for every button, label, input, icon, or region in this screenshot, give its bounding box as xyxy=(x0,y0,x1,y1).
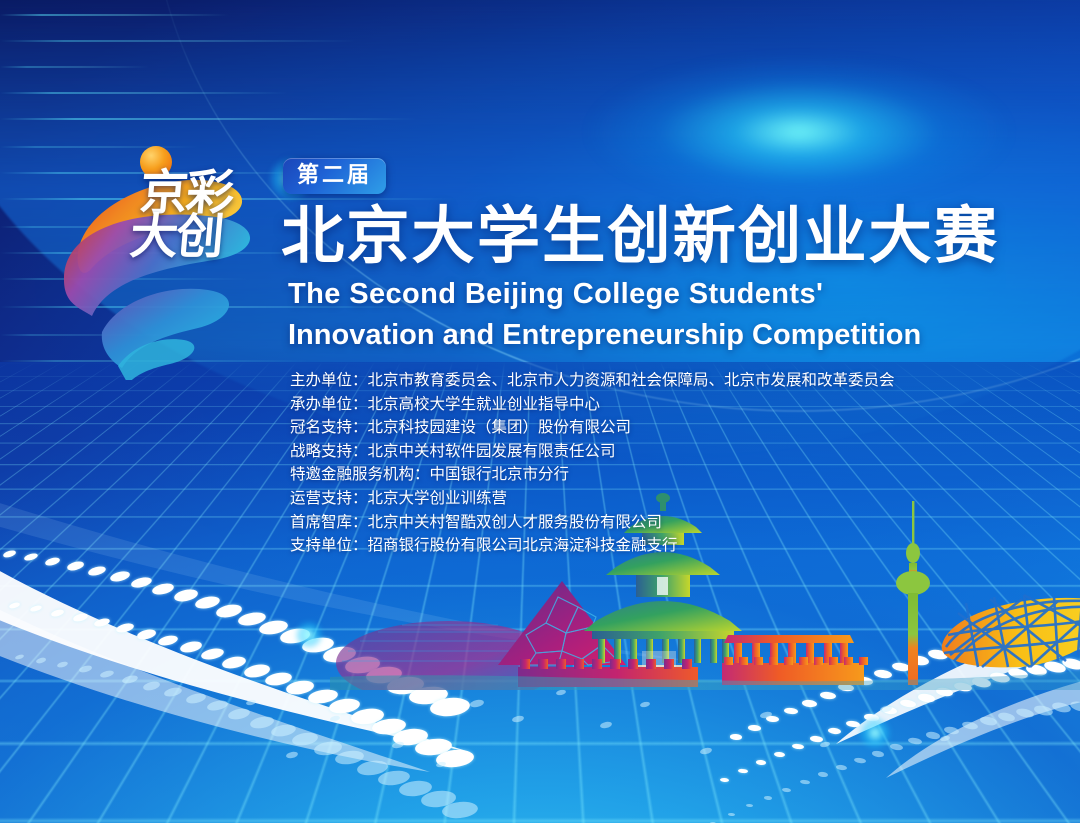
organizer-line: 战略支持：北京中关村软件园发展有限责任公司 xyxy=(290,440,895,464)
halftone-dot xyxy=(330,715,341,722)
halftone-dot xyxy=(908,737,923,745)
halftone-dot xyxy=(820,741,831,748)
halftone-dot xyxy=(66,560,84,572)
halftone-dot xyxy=(179,640,202,654)
halftone-dot xyxy=(800,779,810,784)
halftone-dot xyxy=(820,691,836,700)
sparkle-icon xyxy=(858,716,892,750)
halftone-dot xyxy=(206,699,229,713)
halftone-dot xyxy=(469,699,484,709)
halftone-dot xyxy=(30,605,43,614)
halftone-dot xyxy=(14,654,23,660)
halftone-dot xyxy=(997,711,1015,722)
halftone-dot xyxy=(222,655,248,671)
halftone-dot xyxy=(943,726,959,736)
halftone-dot xyxy=(872,750,885,757)
halftone-dot xyxy=(756,760,767,766)
page-subtitle-line1: The Second Beijing College Students' xyxy=(288,274,921,315)
organizer-line: 主办单位：北京市教育委员会、北京市人力资源和社会保障局、北京市发展和改革委员会 xyxy=(290,369,895,393)
halftone-dot xyxy=(286,751,299,759)
halftone-dot xyxy=(1069,700,1080,714)
halftone-dot xyxy=(292,731,320,747)
halftone-dot xyxy=(173,588,198,604)
organizer-line: 特邀金融服务机构：中国银行北京市分行 xyxy=(290,463,895,487)
organizer-list: 主办单位：北京市教育委员会、北京市人力资源和社会保障局、北京市发展和改革委员会承… xyxy=(290,369,895,558)
halftone-dot xyxy=(640,701,651,708)
competition-logo: 京彩 大创 xyxy=(56,120,296,380)
halftone-dot xyxy=(57,660,69,668)
halftone-dot xyxy=(700,747,713,755)
halftone-dot xyxy=(940,735,951,742)
organizer-line: 支持单位：招商银行股份有限公司北京海淀科技金融支行 xyxy=(290,534,895,558)
halftone-dot xyxy=(45,556,62,567)
halftone-dot xyxy=(728,813,735,817)
organizer-line: 首席智库：北京中关村智酷双创人才服务股份有限公司 xyxy=(290,511,895,535)
halftone-dot xyxy=(228,707,252,721)
sparkle-icon xyxy=(294,620,324,650)
halftone-dot xyxy=(1015,707,1034,719)
page-title: 北京大学生创新创业大赛 xyxy=(281,204,999,269)
page-subtitle-line2: Innovation and Entrepreneurship Competit… xyxy=(288,315,921,356)
halftone-dot xyxy=(142,680,160,691)
halftone-dot xyxy=(900,699,917,709)
halftone-dot xyxy=(961,720,978,730)
halftone-dot xyxy=(836,764,847,770)
halftone-dot xyxy=(164,686,184,698)
halftone-dot xyxy=(130,575,153,589)
halftone-dot xyxy=(87,565,107,578)
halftone-dot xyxy=(136,628,156,641)
halftone-dot xyxy=(51,608,66,617)
halftone-dot xyxy=(600,721,613,729)
halftone-dot xyxy=(782,787,791,792)
halftone-dot xyxy=(270,723,297,739)
logo-calligraphy-line2: 大创 xyxy=(128,216,272,260)
halftone-dot xyxy=(774,752,786,758)
halftone-dot xyxy=(151,581,175,596)
halftone-dot xyxy=(157,634,179,647)
halftone-dot xyxy=(436,761,447,768)
halftone-dot xyxy=(23,552,38,562)
halftone-dot xyxy=(8,602,20,610)
halftone-dot xyxy=(72,612,88,622)
poster-canvas: 京彩 大创 第二届 北京大学生创新创业大赛 The Second Beijing… xyxy=(0,0,1080,823)
halftone-dot xyxy=(200,647,225,662)
page-subtitle: The Second Beijing College Students' Inn… xyxy=(288,274,921,356)
organizer-line: 运营支持：北京大学创业训练营 xyxy=(290,487,895,511)
halftone-dot xyxy=(78,664,92,673)
halftone-dot xyxy=(249,714,274,729)
halftone-dot xyxy=(246,699,257,706)
halftone-dot xyxy=(738,769,748,774)
halftone-dot xyxy=(185,692,206,705)
halftone-dot xyxy=(784,707,799,715)
logo-calligraphy: 京彩 大创 xyxy=(140,172,270,302)
halftone-dot xyxy=(746,804,754,808)
halftone-dot xyxy=(926,731,941,740)
halftone-dot xyxy=(94,617,111,628)
logo-calligraphy-line1: 京彩 xyxy=(138,172,272,216)
halftone-dot xyxy=(748,725,761,732)
halftone-dot xyxy=(2,550,16,559)
halftone-dot xyxy=(730,734,742,740)
halftone-dot xyxy=(243,662,270,678)
halftone-dot xyxy=(100,669,115,679)
edition-badge: 第二届 xyxy=(283,158,386,194)
halftone-dot xyxy=(818,772,829,778)
halftone-dot xyxy=(1033,704,1053,717)
halftone-dot xyxy=(854,757,866,764)
halftone-dot xyxy=(890,743,904,751)
halftone-dot xyxy=(0,652,1,657)
halftone-dot xyxy=(802,699,817,707)
halftone-dot xyxy=(792,743,804,750)
halftone-dot xyxy=(36,657,47,664)
halftone-dot xyxy=(828,727,842,735)
halftone-dot xyxy=(556,689,567,696)
halftone-dot xyxy=(810,735,823,742)
halftone-dot xyxy=(764,796,772,800)
halftone-dot xyxy=(392,741,405,749)
organizer-line: 冠名支持：北京科技园建设（集团）股份有限公司 xyxy=(290,416,895,440)
halftone-dot xyxy=(512,715,525,723)
organizer-line: 承办单位：北京高校大学生就业创业指导中心 xyxy=(290,393,895,417)
halftone-dot xyxy=(121,674,138,685)
halftone-dot xyxy=(115,622,134,634)
halftone-dot xyxy=(979,715,997,726)
halftone-dot xyxy=(109,570,130,583)
halftone-dot xyxy=(917,693,935,703)
halftone-dot xyxy=(1051,701,1072,714)
halftone-dot xyxy=(720,778,729,783)
